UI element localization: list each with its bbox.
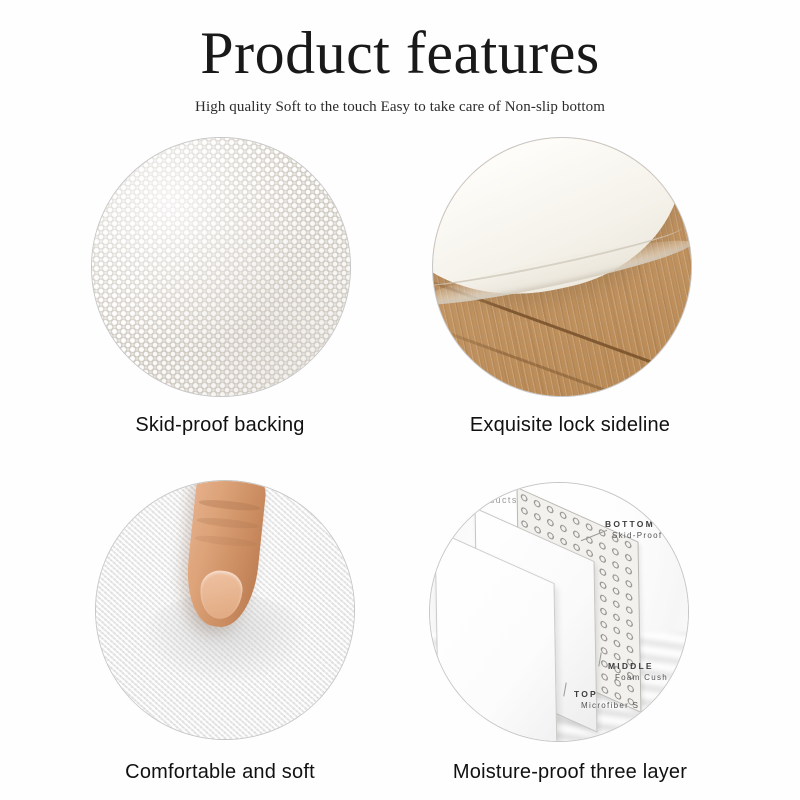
layer-label-middle-material: Foam Cush — [615, 673, 668, 682]
product-features-page: Product features High quality Soft to th… — [0, 0, 800, 800]
feature-caption: Skid-proof backing — [50, 414, 390, 437]
header: Product features High quality Soft to th… — [0, 18, 800, 117]
layer-label-bottom-material: Skid-Proof — [612, 531, 662, 540]
page-title: Product features — [0, 18, 800, 88]
soft-pile-texture-graphic — [96, 481, 354, 739]
three-layer-diagram-graphic: products BOTTOM Skid-Proof MIDDLE Foam C… — [430, 483, 688, 741]
feature-image-exquisite-lock-sideline — [433, 138, 691, 396]
layer-label-middle: MIDDLE Foam Cush — [608, 661, 668, 682]
layer-label-top: TOP Microfiber S — [574, 689, 639, 710]
layer-label-bottom-name: BOTTOM — [605, 519, 662, 529]
finger-crease — [198, 498, 260, 512]
feature-card-skid-proof-backing: Skid-proof backing — [50, 132, 390, 462]
feature-caption: Moisture-proof three layer — [400, 761, 740, 784]
wood-floor-scene-graphic — [433, 138, 691, 396]
feature-image-skid-proof-backing — [92, 138, 350, 396]
feature-caption: Exquisite lock sideline — [400, 414, 740, 437]
diagram-brand-label: products — [472, 495, 518, 505]
feature-caption: Comfortable and soft — [50, 761, 390, 784]
feature-card-moisture-proof-three-layer: products BOTTOM Skid-Proof MIDDLE Foam C… — [400, 469, 740, 799]
finger-crease — [196, 516, 258, 530]
finger-crease — [195, 534, 257, 548]
feature-image-comfortable-and-soft — [96, 481, 354, 739]
feature-image-moisture-proof-three-layer: products BOTTOM Skid-Proof MIDDLE Foam C… — [430, 483, 688, 741]
layer-label-bottom: BOTTOM Skid-Proof — [605, 519, 662, 540]
mesh-texture-graphic — [92, 138, 350, 396]
layer-label-top-name: TOP — [574, 689, 639, 699]
layer-label-top-material: Microfiber S — [581, 701, 639, 710]
layer-label-middle-name: MIDDLE — [608, 661, 668, 671]
page-subtitle: High quality Soft to the touch Easy to t… — [0, 97, 800, 117]
fingertip-graphic — [198, 569, 245, 621]
feature-card-exquisite-lock-sideline: Exquisite lock sideline — [400, 132, 740, 462]
feature-card-comfortable-and-soft: Comfortable and soft — [50, 469, 390, 799]
